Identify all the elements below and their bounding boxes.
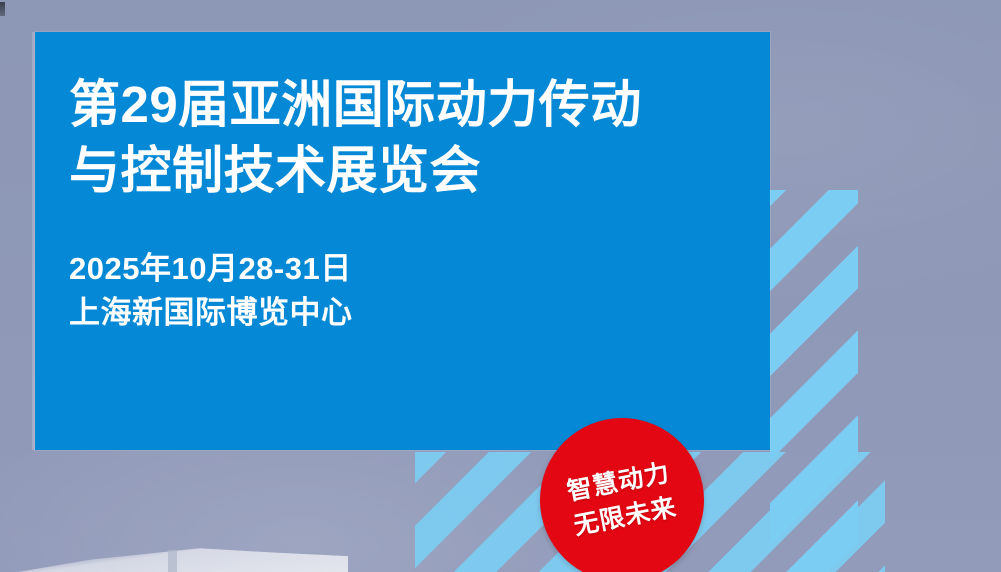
- exhibition-title-line-2: 与控制技术展览会: [69, 138, 749, 204]
- exhibition-title-line-1: 第29届亚洲国际动力传动: [69, 72, 749, 138]
- exhibition-date: 2025年10月28-31日: [69, 247, 353, 291]
- exhibition-venue: 上海新国际博览中心: [69, 291, 353, 335]
- venue-pillar-shape: [168, 550, 177, 572]
- title-panel: 第29届亚洲国际动力传动 与控制技术展览会 2025年10月28-31日 上海新…: [35, 32, 770, 450]
- corner-artifact-mark: [0, 2, 5, 16]
- venue-roof-shape: [18, 528, 348, 572]
- slogan-badge: 智慧动力 无限未来: [540, 418, 704, 572]
- exhibition-poster: 第29届亚洲国际动力传动 与控制技术展览会 2025年10月28-31日 上海新…: [0, 0, 1001, 572]
- slogan-badge-text: 智慧动力 无限未来: [526, 404, 718, 572]
- exhibition-details: 2025年10月28-31日 上海新国际博览中心: [69, 247, 353, 335]
- venue-building-silhouette: [18, 528, 348, 572]
- exhibition-title: 第29届亚洲国际动力传动 与控制技术展览会: [69, 72, 749, 205]
